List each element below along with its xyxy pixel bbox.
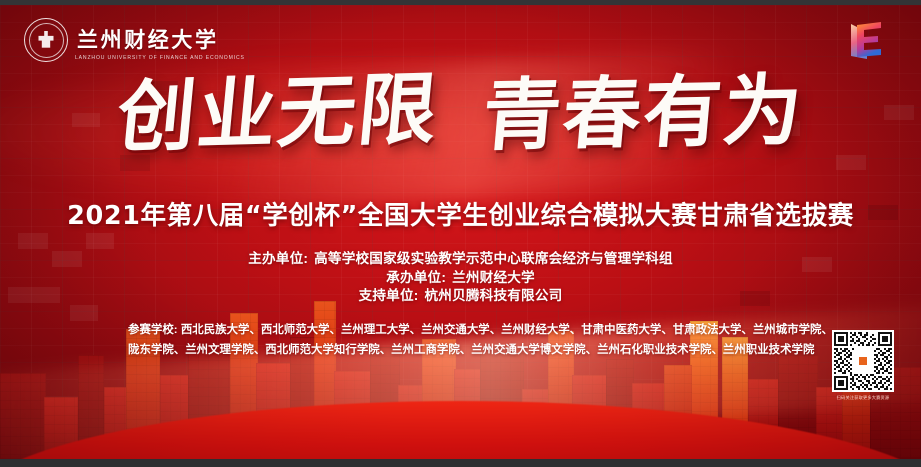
- organizer-row: 支持单位:杭州贝腾科技有限公司: [0, 287, 921, 306]
- headline-part-1: 创业无限: [114, 71, 442, 158]
- qr-code-icon[interactable]: [832, 330, 894, 392]
- university-name-en: LANZHOU UNIVERSITY OF FINANCE AND ECONOM…: [75, 55, 245, 61]
- organizer-label: 承办单位:: [386, 270, 446, 285]
- university-name-cn: 兰州财经大学: [77, 29, 219, 51]
- organizer-row: 承办单位:兰州财经大学: [0, 269, 921, 288]
- screenshot-root: 兰州财经大学 LANZHOU UNIVERSITY OF FINANCE AND…: [0, 0, 921, 467]
- le-brand-logo-icon: [843, 19, 887, 61]
- university-crest-icon: [24, 18, 68, 62]
- organizer-value: 杭州贝腾科技有限公司: [424, 288, 562, 303]
- page-title: 创业无限 青春有为: [0, 75, 921, 153]
- organizer-row: 主办单位:高等学校国家级实验教学示范中心联席会经济与管理学科组: [0, 250, 921, 269]
- qr-code-block[interactable]: 扫码关注获取更多大赛资源: [829, 330, 897, 401]
- schools-line-2: 陇东学院、兰州文理学院、西北师范大学知行学院、兰州工商学院、兰州交通大学博文学院…: [128, 341, 800, 361]
- organizer-value: 兰州财经大学: [452, 270, 535, 285]
- event-poster: 兰州财经大学 LANZHOU UNIVERSITY OF FINANCE AND…: [0, 5, 921, 459]
- organizer-value: 高等学校国家级实验教学示范中心联席会经济与管理学科组: [314, 251, 673, 266]
- event-subtitle: 2021年第八届“学创杯”全国大学生创业综合模拟大赛甘肃省选拔赛: [0, 195, 921, 232]
- organizer-label: 主办单位:: [248, 251, 308, 266]
- window-chrome-bottom: [0, 459, 921, 467]
- organizer-block: 主办单位:高等学校国家级实验教学示范中心联席会经济与管理学科组 承办单位:兰州财…: [0, 250, 921, 306]
- participating-schools-block: 参赛学校: 西北民族大学、西北师范大学、兰州理工大学、兰州交通大学、兰州财经大学…: [128, 321, 800, 360]
- organizer-label: 支持单位:: [359, 288, 419, 303]
- qr-code-caption: 扫码关注获取更多大赛资源: [829, 395, 897, 401]
- window-chrome-top: [0, 0, 921, 5]
- schools-line-1: 参赛学校: 西北民族大学、西北师范大学、兰州理工大学、兰州交通大学、兰州财经大学…: [128, 321, 800, 341]
- headline-part-2: 青春有为: [479, 72, 806, 156]
